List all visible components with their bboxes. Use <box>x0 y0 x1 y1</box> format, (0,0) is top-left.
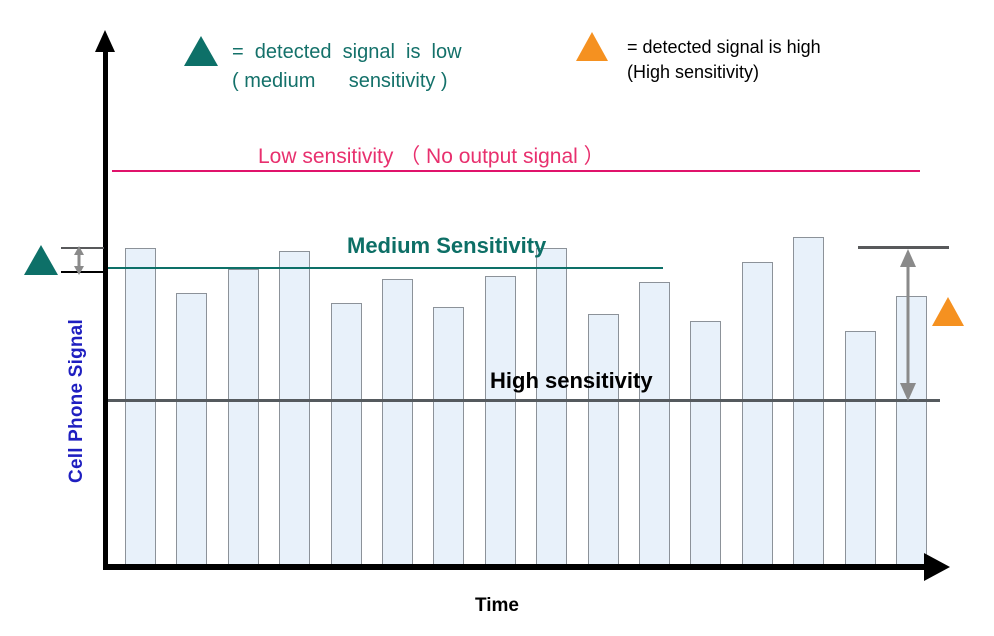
y-axis <box>103 45 108 570</box>
bar <box>228 269 259 567</box>
y-axis-arrow-icon <box>95 30 115 52</box>
chart-canvas: Cell Phone Signal Time Low sensitivity （… <box>0 0 994 636</box>
bar <box>690 321 721 567</box>
x-axis <box>103 564 928 570</box>
high-sensitivity-label: High sensitivity <box>490 368 653 394</box>
legend-teal-line2: ( medium sensitivity ) <box>232 70 448 92</box>
legend-teal-line1: = detected signal is low <box>232 41 462 63</box>
medium-sensitivity-line <box>103 267 663 269</box>
medium-range-double-arrow-icon <box>72 246 86 276</box>
legend-orange-line1: = detected signal is high <box>627 37 821 57</box>
bar <box>742 262 773 567</box>
marker-triangle-orange-icon <box>932 297 964 326</box>
bar <box>536 248 567 567</box>
bar <box>382 279 413 567</box>
low-sensitivity-line <box>112 170 920 172</box>
bar <box>125 248 156 567</box>
bar <box>433 307 464 567</box>
high-sensitivity-line <box>103 399 940 402</box>
legend-orange-text: = detected signal is high (High sensitiv… <box>627 35 821 85</box>
triangle-orange-icon <box>576 32 608 61</box>
high-range-double-arrow-icon <box>897 249 919 401</box>
marker-triangle-teal-icon <box>24 245 58 275</box>
bar <box>331 303 362 567</box>
legend-orange-line2: (High sensitivity) <box>627 62 759 82</box>
bar <box>279 251 310 567</box>
bar <box>176 293 207 567</box>
bar <box>639 282 670 567</box>
medium-sensitivity-label: Medium Sensitivity <box>347 233 546 259</box>
bar <box>485 276 516 567</box>
bar-series <box>0 0 994 636</box>
x-axis-label: Time <box>0 595 994 617</box>
bar <box>793 237 824 567</box>
triangle-teal-icon <box>184 36 218 66</box>
legend-teal-text: = detected signal is low ( medium sensit… <box>232 38 462 96</box>
low-sensitivity-label: Low sensitivity （ No output signal ） <box>258 140 605 170</box>
bar <box>845 331 876 567</box>
bar <box>588 314 619 567</box>
x-axis-arrow-icon <box>924 553 950 581</box>
y-axis-label: Cell Phone Signal <box>66 301 88 501</box>
